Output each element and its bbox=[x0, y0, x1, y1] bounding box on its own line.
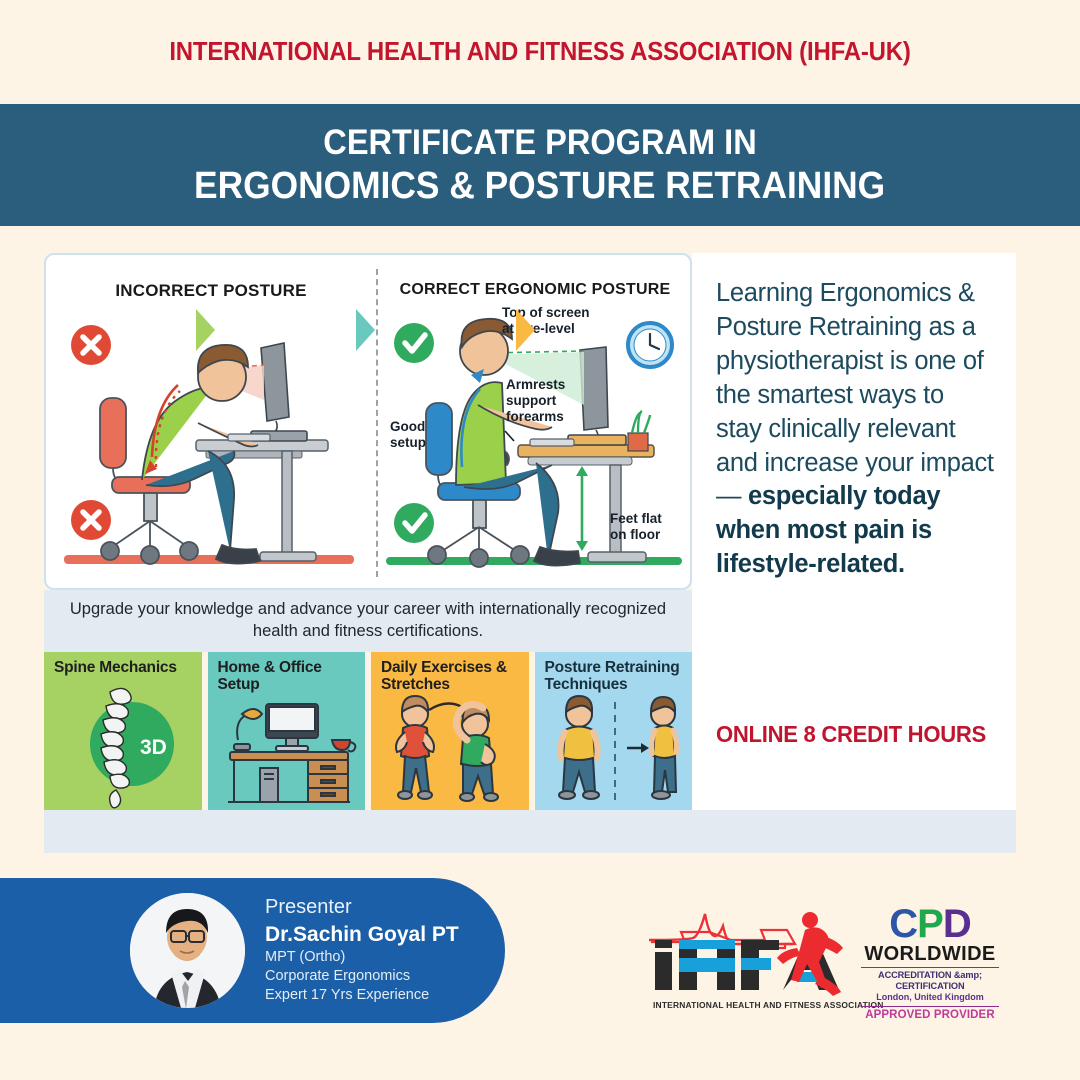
card-home-office-setup[interactable]: Home & Office Setup bbox=[208, 652, 366, 810]
card-title: Spine Mechanics bbox=[54, 660, 196, 677]
ihfa-caption: INTERNATIONAL HEALTH AND FITNESS ASSOCIA… bbox=[653, 1000, 884, 1010]
cpd-divider-bottom bbox=[861, 1006, 999, 1007]
caption-band: Upgrade your knowledge and advance your … bbox=[44, 590, 692, 652]
bottom-strip bbox=[44, 810, 1016, 853]
label-armrests: Armrests bbox=[506, 377, 565, 392]
presenter-card: Presenter Dr.Sachin Goyal PT MPT (Ortho)… bbox=[0, 878, 505, 1023]
presenter-experience: Expert 17 Yrs Experience bbox=[265, 986, 459, 1005]
presenter-specialty: Corporate Ergonomics bbox=[265, 967, 459, 986]
x-badge-top bbox=[71, 325, 111, 365]
presenter-name: Dr.Sachin Goyal PT bbox=[265, 921, 459, 948]
card-title: Posture Retraining Techniques bbox=[545, 660, 687, 693]
label-support: support bbox=[506, 393, 557, 408]
label-top-of-screen: Top of screen bbox=[502, 305, 590, 320]
value-proposition-text: Learning Ergonomics & Posture Retraining… bbox=[716, 277, 994, 582]
check-badge-bottom bbox=[394, 503, 434, 543]
credit-hours-badge: ONLINE 8 CREDIT HOURS bbox=[716, 721, 986, 748]
posture-illustration-panel: INCORRECT POSTURE bbox=[44, 253, 692, 590]
presenter-credential: MPT (Ortho) bbox=[265, 948, 459, 967]
cpd-letter-p: P bbox=[917, 902, 943, 946]
incorrect-posture-svg bbox=[46, 255, 376, 590]
program-title-line1: CERTIFICATE PROGRAM IN bbox=[323, 123, 756, 163]
cpd-logo: CPD WORLDWIDE ACCREDITATION &amp; CERTIF… bbox=[855, 906, 1005, 1021]
card-spine-mechanics[interactable]: Spine Mechanics 3D bbox=[44, 652, 202, 810]
cpd-approved-provider: APPROVED PROVIDER bbox=[855, 1009, 1005, 1021]
header-band: CERTIFICATE PROGRAM IN ERGONOMICS & POST… bbox=[0, 104, 1080, 226]
label-on-floor: on floor bbox=[610, 527, 661, 542]
caption-text: Upgrade your knowledge and advance your … bbox=[62, 599, 674, 643]
label-setup: setup bbox=[390, 435, 426, 450]
correct-posture-figure: CORRECT ERGONOMIC POSTURE bbox=[378, 255, 692, 588]
topic-cards: Spine Mechanics 3D Home & Office Setup bbox=[44, 652, 692, 810]
label-good: Good bbox=[390, 419, 425, 434]
label-at-eye-level: at eye-level bbox=[502, 321, 575, 336]
value-proposition-panel: Learning Ergonomics & Posture Retraining… bbox=[692, 253, 1016, 810]
accreditation-logos: INTERNATIONAL HEALTH AND FITNESS ASSOCIA… bbox=[645, 900, 1005, 1025]
cpd-accreditation: ACCREDITATION &amp; CERTIFICATION bbox=[855, 970, 1005, 992]
label-forearms: forearms bbox=[506, 409, 564, 424]
cpd-divider-top bbox=[861, 967, 999, 968]
correct-posture-svg: Top of screen at eye-level Armrests supp… bbox=[378, 255, 692, 590]
main-content: INCORRECT POSTURE bbox=[44, 253, 1016, 853]
cpd-letter-d: D bbox=[943, 902, 971, 946]
organization-title: INTERNATIONAL HEALTH AND FITNESS ASSOCIA… bbox=[32, 0, 1047, 104]
value-prop-regular: Learning Ergonomics & Posture Retraining… bbox=[716, 279, 994, 510]
value-prop-bold: especially today when most pain is lifes… bbox=[716, 482, 940, 578]
presenter-info: Presenter Dr.Sachin Goyal PT MPT (Ortho)… bbox=[265, 895, 459, 1005]
clock-icon bbox=[628, 323, 672, 367]
correct-posture-heading: CORRECT ERGONOMIC POSTURE bbox=[378, 281, 692, 299]
label-feet-flat: Feet flat bbox=[610, 511, 662, 526]
svg-text:3D: 3D bbox=[140, 736, 167, 759]
cpd-worldwide: WORLDWIDE bbox=[855, 943, 1005, 965]
incorrect-posture-figure: INCORRECT POSTURE bbox=[46, 255, 376, 588]
cpd-letter-c: C bbox=[889, 902, 917, 946]
presenter-avatar bbox=[130, 893, 245, 1008]
card-title: Home & Office Setup bbox=[218, 660, 360, 693]
cpd-city: London, United Kingdom bbox=[855, 992, 1005, 1003]
card-title: Daily Exercises & Stretches bbox=[381, 660, 523, 693]
incorrect-posture-heading: INCORRECT POSTURE bbox=[46, 281, 376, 301]
check-badge-top bbox=[394, 323, 434, 363]
cpd-letters: CPD bbox=[855, 906, 1005, 943]
card-posture-retraining[interactable]: Posture Retraining Techniques bbox=[535, 652, 693, 810]
x-badge-bottom bbox=[71, 500, 111, 540]
ihfa-logo bbox=[645, 900, 855, 1005]
presenter-role-label: Presenter bbox=[265, 895, 459, 919]
program-title-line2: ERGONOMICS & POSTURE RETRAINING bbox=[194, 165, 885, 208]
card-daily-exercises[interactable]: Daily Exercises & Stretches bbox=[371, 652, 529, 810]
